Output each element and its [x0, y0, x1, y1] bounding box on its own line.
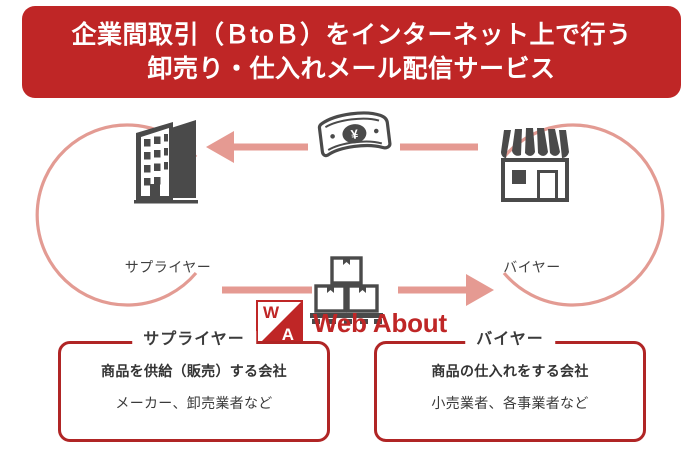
buyer-info-box-body: 商品の仕入れをする会社 小売業者、各事業者など	[377, 362, 643, 413]
banknote-yen-icon: ¥	[318, 110, 390, 156]
supplier-info-box: サプライヤー 商品を供給（販売）する会社 メーカー、卸売業者など	[58, 341, 330, 442]
banner-line-1: 企業間取引（ＢtoＢ）をインターネット上で行う	[71, 19, 631, 51]
buyer-info-box-title: バイヤー	[465, 331, 555, 349]
banner-line-2: 卸売り・仕入れメール配信サービス	[147, 53, 555, 85]
buyer-info-primary: 商品の仕入れをする会社	[377, 362, 643, 382]
supplier-info-box-body: 商品を供給（販売）する会社 メーカー、卸売業者など	[61, 362, 327, 413]
supplier-info-box-title: サプライヤー	[132, 331, 256, 349]
buyer-node-label: バイヤー	[432, 257, 632, 277]
supplier-node-label: サプライヤー	[68, 257, 268, 277]
storefront-icon	[501, 128, 569, 202]
web-about-logo: W A Web About	[256, 300, 447, 347]
logo-letter-w: W	[263, 304, 279, 321]
flow-diagram: ¥	[0, 100, 700, 325]
logo-wordmark: Web About	[313, 308, 447, 339]
bottom-arrow-head	[466, 274, 494, 306]
flow-diagram-graphics: ¥	[0, 100, 700, 325]
diagram-page: 企業間取引（ＢtoＢ）をインターネット上で行う 卸売り・仕入れメール配信サービス	[0, 0, 700, 449]
supplier-info-primary: 商品を供給（販売）する会社	[61, 362, 327, 382]
logo-letter-a: A	[282, 326, 294, 343]
header-banner: 企業間取引（ＢtoＢ）をインターネット上で行う 卸売り・仕入れメール配信サービス	[22, 6, 681, 98]
supplier-info-secondary: メーカー、卸売業者など	[61, 394, 327, 414]
office-building-icon	[134, 120, 198, 204]
logo-mark-icon: W A	[256, 300, 303, 347]
buyer-info-box: バイヤー 商品の仕入れをする会社 小売業者、各事業者など	[374, 341, 646, 442]
buyer-info-secondary: 小売業者、各事業者など	[377, 394, 643, 414]
top-arrow-head	[206, 131, 234, 163]
